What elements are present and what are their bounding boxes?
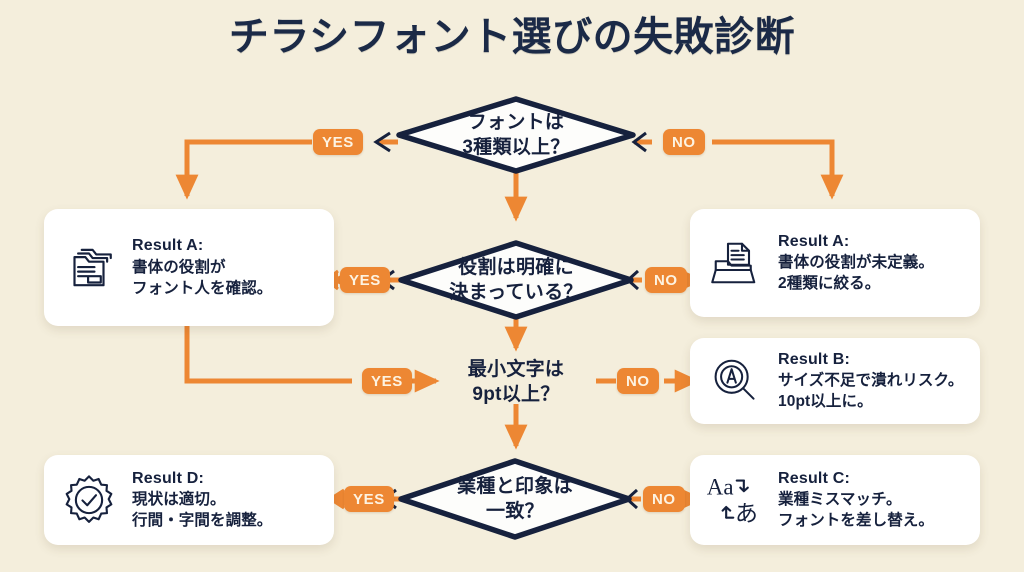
result-line-2: 行間・字間を調整。 bbox=[132, 511, 320, 532]
decision-node-min-size[interactable]: 最小文字は 9pt以上？ bbox=[436, 352, 596, 412]
result-card-a-left[interactable]: Result A: 書体の役割が フォント人を確認。 bbox=[44, 209, 334, 326]
stacked-documents-icon bbox=[58, 237, 120, 299]
result-title: Result B: bbox=[778, 349, 966, 371]
decision-line-2: 3種類以上？ bbox=[462, 135, 569, 160]
decision-label: 業種と印象は 一致？ bbox=[457, 474, 573, 524]
svg-text:あ: あ bbox=[735, 501, 758, 527]
result-card-d[interactable]: Result D: 現状は適切。 行間・字間を調整。 bbox=[44, 455, 334, 545]
result-card-a-right[interactable]: Result A: 書体の役割が未定義。 2種類に絞る。 bbox=[690, 209, 980, 317]
result-card-text: Result A: 書体の役割が フォント人を確認。 bbox=[132, 235, 320, 299]
decision-label: フォントは 3種類以上？ bbox=[462, 110, 569, 160]
result-line-1: サイズ不足で潰れリスク。 bbox=[778, 371, 966, 392]
result-card-text: Result C: 業種ミスマッチ。 フォントを差し替え。 bbox=[778, 468, 966, 532]
result-title: Result A: bbox=[778, 231, 966, 253]
decision-line-1: 業種と印象は bbox=[457, 474, 573, 499]
badge-d4-yes[interactable]: YES bbox=[344, 486, 394, 512]
badge-d4-no[interactable]: NO bbox=[643, 486, 685, 512]
result-line-2: フォントを差し替え。 bbox=[778, 511, 966, 532]
decision-line-1: 役割は明確に bbox=[449, 255, 582, 280]
result-line-2: 2種類に絞る。 bbox=[778, 274, 966, 295]
wire-left-rail bbox=[187, 326, 352, 381]
badge-d3-no[interactable]: NO bbox=[617, 368, 659, 394]
badge-d1-yes[interactable]: YES bbox=[313, 129, 363, 155]
svg-text:Aa: Aa bbox=[707, 475, 734, 500]
magnifier-letter-a-icon bbox=[704, 350, 766, 412]
folder-document-icon bbox=[704, 232, 766, 294]
gear-check-icon bbox=[58, 469, 120, 531]
result-title: Result C: bbox=[778, 468, 966, 490]
decision-node-role-clarity[interactable]: 役割は明確に 決まっている？ bbox=[398, 240, 634, 320]
result-title: Result D: bbox=[132, 468, 320, 490]
decision-line-2: 決まっている？ bbox=[449, 280, 582, 305]
result-line-1: 書体の役割が未定義。 bbox=[778, 253, 966, 274]
result-card-b[interactable]: Result B: サイズ不足で潰れリスク。 10pt以上に。 bbox=[690, 338, 980, 424]
result-card-c[interactable]: Aa あ Result C: 業種ミスマッチ。 フォントを差し替え。 bbox=[690, 455, 980, 545]
badge-d2-yes[interactable]: YES bbox=[340, 267, 390, 293]
result-card-text: Result B: サイズ不足で潰れリスク。 10pt以上に。 bbox=[778, 349, 966, 413]
decision-line-2: 9pt以上？ bbox=[468, 382, 565, 407]
result-card-text: Result D: 現状は適切。 行間・字間を調整。 bbox=[132, 468, 320, 532]
page-title: チラシフォント選びの失敗診断 bbox=[0, 10, 1024, 64]
result-line-2: フォント人を確認。 bbox=[132, 279, 320, 300]
result-line-1: 業種ミスマッチ。 bbox=[778, 490, 966, 511]
result-line-2: 10pt以上に。 bbox=[778, 392, 966, 413]
decision-line-1: フォントは bbox=[462, 110, 569, 135]
decision-line-2: 一致？ bbox=[457, 499, 573, 524]
badge-d1-no[interactable]: NO bbox=[663, 129, 705, 155]
decision-node-font-count[interactable]: フォントは 3種類以上？ bbox=[396, 96, 636, 174]
decision-label: 最小文字は 9pt以上？ bbox=[468, 357, 565, 407]
decision-line-1: 最小文字は bbox=[468, 357, 565, 382]
badge-d2-no[interactable]: NO bbox=[645, 267, 687, 293]
font-swap-icon: Aa あ bbox=[704, 469, 766, 531]
diagram-canvas: チラシフォント選びの失敗診断 bbox=[0, 0, 1024, 572]
result-card-text: Result A: 書体の役割が未定義。 2種類に絞る。 bbox=[778, 231, 966, 295]
decision-label: 役割は明確に 決まっている？ bbox=[449, 255, 582, 305]
result-title: Result A: bbox=[132, 235, 320, 257]
decision-node-industry-impression[interactable]: 業種と印象は 一致？ bbox=[398, 458, 632, 540]
result-line-1: 書体の役割が bbox=[132, 258, 320, 279]
result-line-1: 現状は適切。 bbox=[132, 490, 320, 511]
chevron-d1-yes bbox=[376, 133, 390, 151]
badge-d3-yes[interactable]: YES bbox=[362, 368, 412, 394]
wire-d1-yes bbox=[187, 142, 398, 196]
